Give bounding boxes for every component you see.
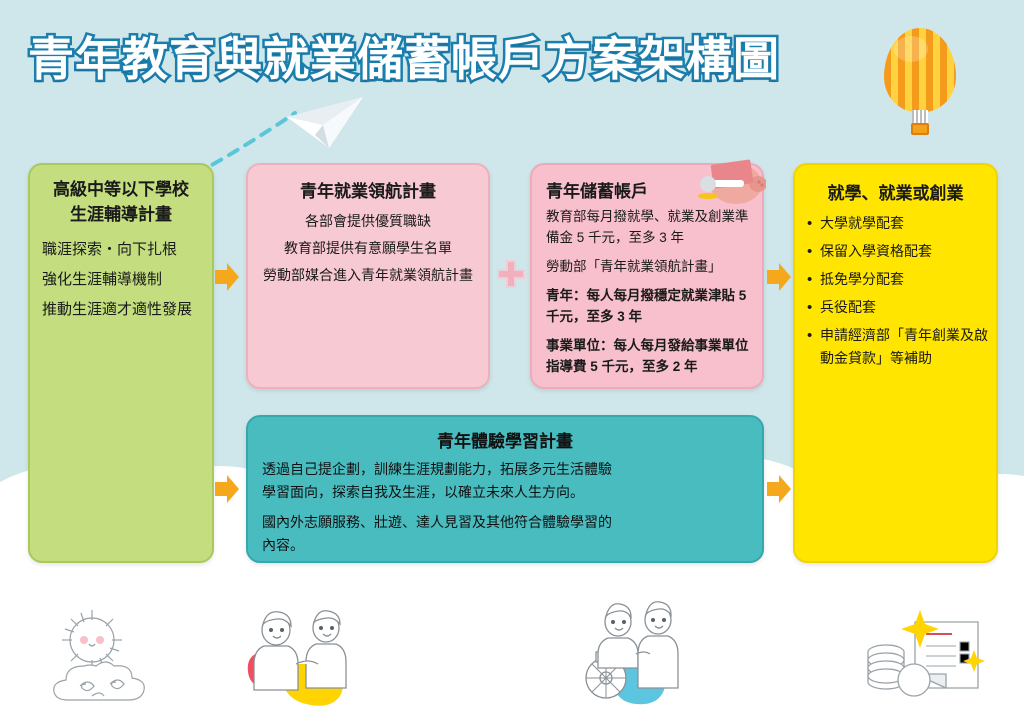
panel-pink2-paragraph: 事業單位：每人每月發給事業單位指導費 5 千元，至多 2 年 <box>546 335 750 377</box>
arrow-pink2-to-yellow-icon <box>766 262 792 292</box>
panel-green-heading-line2: 生涯輔導計畫 <box>30 202 212 227</box>
balloon-basket <box>911 123 929 135</box>
wheelchair-pair-icon <box>570 598 710 708</box>
panel-pink1-item: 勞動部媒合進入青年就業領航計畫 <box>248 262 488 289</box>
panel-teal-paragraph: 國內外志願服務、壯遊、達人見習及其他符合體驗學習的內容。 <box>262 511 622 557</box>
panel-green-item: 強化生涯輔導機制 <box>42 265 200 295</box>
infographic-canvas: 青年教育與就業儲蓄帳戶方案架構圖 高級中等以下學校 生涯輔導計畫 職涯探索・向下… <box>0 0 1024 724</box>
page-title-text: 青年教育與就業儲蓄帳戶方案架構圖 <box>28 33 780 85</box>
panel-pink1-body: 各部會提供優質職缺 教育部提供有意願學生名單 勞動部媒合進入青年就業領航計畫 <box>248 208 488 289</box>
panel-yellow-heading: 就學、就業或創業 <box>795 179 996 204</box>
panel-pink1-item: 教育部提供有意願學生名單 <box>248 235 488 262</box>
panel-pink2-paragraph: 勞動部「青年就業領航計畫」 <box>546 256 750 277</box>
sun-and-cloud-icon <box>48 604 178 704</box>
arrow-green-to-pink1-icon <box>214 262 240 292</box>
panel-yellow-list: 大學就學配套 保留入學資格配套 抵免學分配套 兵役配套 申請經濟部「青年創業及啟… <box>807 212 996 370</box>
panel-green-body: 職涯探索・向下扎根 強化生涯輔導機制 推動生涯適才適性發展 <box>30 235 212 325</box>
arrow-teal-to-yellow-icon <box>766 474 792 504</box>
panel-green-item: 職涯探索・向下扎根 <box>42 235 200 265</box>
panel-green-heading: 高級中等以下學校 生涯輔導計畫 <box>30 177 212 227</box>
hot-air-balloon-icon <box>884 28 956 148</box>
plus-pink1-pink2-icon <box>496 259 526 289</box>
panel-yellow-item: 兵役配套 <box>807 296 996 319</box>
panel-youth-experiential-learning[interactable]: 青年體驗學習計畫 透過自己提企劃，訓練生涯規劃能力，拓展多元生活體驗學習面向，探… <box>246 415 764 563</box>
coins-and-certificate-icon <box>860 608 990 706</box>
panel-green-heading-line1: 高級中等以下學校 <box>30 177 212 202</box>
panel-yellow-item: 抵免學分配套 <box>807 268 996 291</box>
arrow-green-to-teal-icon <box>214 474 240 504</box>
balloon-envelope <box>884 28 956 112</box>
balloon-neck <box>912 110 928 124</box>
panel-senior-high-career-guidance[interactable]: 高級中等以下學校 生涯輔導計畫 職涯探索・向下扎根 強化生涯輔導機制 推動生涯適… <box>28 163 214 563</box>
panel-pink1-item: 各部會提供優質職缺 <box>248 208 488 235</box>
panel-teal-body: 透過自己提企劃，訓練生涯規劃能力，拓展多元生活體驗學習面向，探索自我及生涯，以確… <box>248 458 762 557</box>
panel-pink1-heading: 青年就業領航計畫 <box>248 177 488 202</box>
panel-pink2-paragraph: 教育部每月撥就學、就業及創業準備金 5 千元，至多 3 年 <box>546 206 750 248</box>
panel-teal-paragraph: 透過自己提企劃，訓練生涯規劃能力，拓展多元生活體驗學習面向，探索自我及生涯，以確… <box>262 458 622 504</box>
page-title: 青年教育與就業儲蓄帳戶方案架構圖 <box>28 24 888 96</box>
two-students-icon <box>240 600 372 706</box>
panel-yellow-item: 申請經濟部「青年創業及啟動金貸款」等補助 <box>807 324 996 370</box>
panel-green-item: 推動生涯適才適性發展 <box>42 295 200 325</box>
panel-youth-employment-navigation[interactable]: 青年就業領航計畫 各部會提供優質職缺 教育部提供有意願學生名單 勞動部媒合進入青… <box>246 163 490 389</box>
panel-yellow-item: 保留入學資格配套 <box>807 240 996 263</box>
paper-plane-icon <box>285 95 365 150</box>
panel-yellow-item: 大學就學配套 <box>807 212 996 235</box>
panel-study-work-or-startup[interactable]: 就學、就業或創業 大學就學配套 保留入學資格配套 抵免學分配套 兵役配套 申請經… <box>793 163 998 563</box>
panel-teal-heading: 青年體驗學習計畫 <box>248 427 762 452</box>
piggy-bank-graduation-cap-icon <box>660 150 766 212</box>
panel-pink2-body: 教育部每月撥就學、就業及創業準備金 5 千元，至多 3 年 勞動部「青年就業領航… <box>532 206 762 377</box>
panel-pink2-paragraph: 青年：每人每月撥穩定就業津貼 5 千元，至多 3 年 <box>546 285 750 327</box>
